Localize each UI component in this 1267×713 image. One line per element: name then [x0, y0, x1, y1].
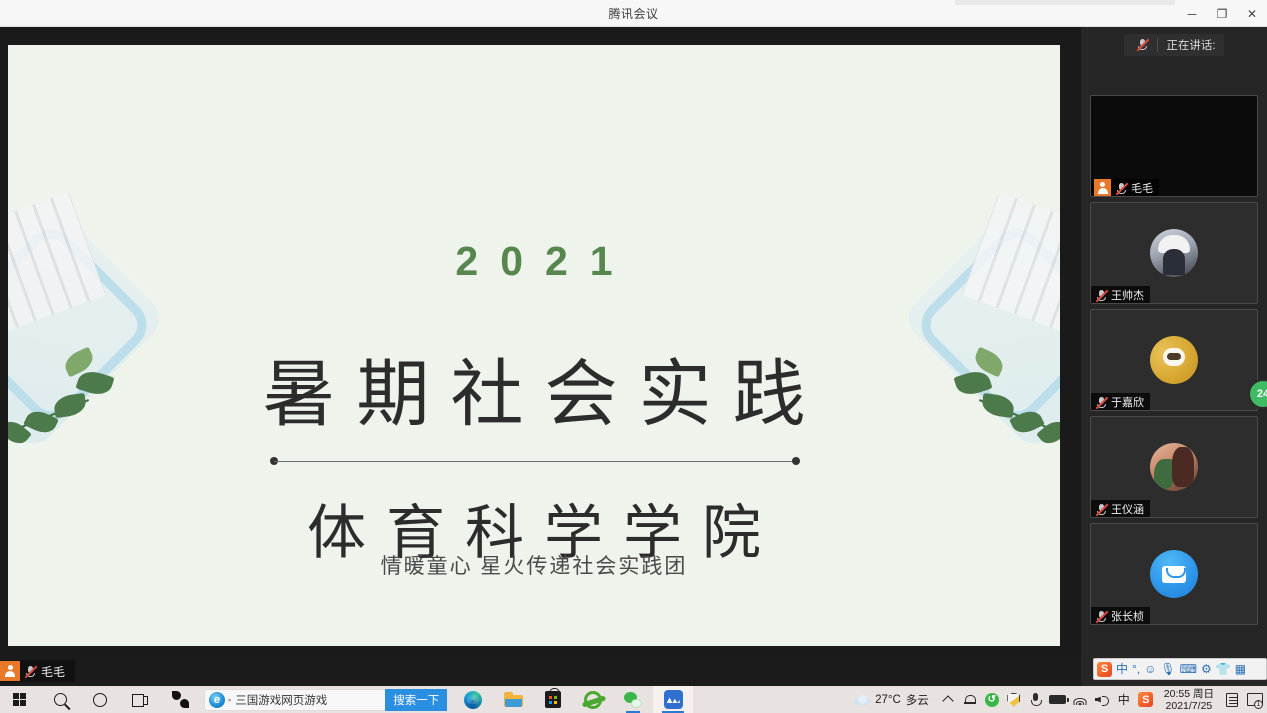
- action-center-icon: 1: [1247, 693, 1261, 706]
- start-button[interactable]: [0, 686, 40, 713]
- chevron-up-icon: [942, 695, 953, 706]
- tray-security-shield[interactable]: [1003, 686, 1025, 713]
- speaking-now-header: 正在讲话:: [1081, 27, 1267, 62]
- participant-avatar: [1150, 336, 1198, 384]
- divider-dot-right: [792, 457, 800, 465]
- taskbar-app-microsoft-store[interactable]: [533, 686, 573, 713]
- window-title-bar: 腾讯会议 ─ ❐ ✕: [0, 0, 1267, 27]
- participant-tile[interactable]: 王仪涵: [1090, 416, 1258, 518]
- search-submit-button[interactable]: 搜索一下: [385, 689, 447, 711]
- window-controls: ─ ❐ ✕: [1177, 0, 1267, 27]
- participant-label: 王帅杰: [1091, 286, 1150, 303]
- microsoft-edge-icon: [464, 691, 482, 709]
- participant-label: 于嘉欣: [1091, 393, 1150, 410]
- cortana-icon: [93, 693, 107, 707]
- mic-muted-icon: [24, 665, 37, 678]
- titlebar-decoration: [955, 0, 1175, 5]
- taskbar-app-wechat[interactable]: [613, 686, 653, 713]
- notes-icon: [1226, 693, 1238, 707]
- taskbar-app-sogou-browser[interactable]: [160, 686, 200, 713]
- divider-line: [274, 461, 796, 462]
- search-icon: [54, 693, 67, 706]
- ime-language-toggle[interactable]: 中: [1116, 663, 1128, 675]
- internet-explorer-icon: [584, 691, 602, 709]
- taskbar-search-button[interactable]: [40, 686, 80, 713]
- apps-grid-icon[interactable]: ▦: [1235, 663, 1246, 675]
- mic-muted-icon: [1095, 396, 1107, 408]
- sogou-ime-toolbar[interactable]: S 中 °, ☺ 🎙 ⌨ ⚙ 👕 ▦: [1093, 658, 1267, 680]
- header-divider: [1157, 38, 1158, 52]
- tray-notifications-bell[interactable]: [959, 686, 981, 713]
- skin-icon[interactable]: 👕: [1216, 663, 1231, 675]
- tray-360-safe[interactable]: ↺: [981, 686, 1003, 713]
- search-separator: ▪: [228, 695, 231, 705]
- participant-avatar: [1150, 443, 1198, 491]
- user-avatar-icon: [1094, 179, 1111, 196]
- toolbox-icon[interactable]: ⚙: [1201, 663, 1212, 675]
- taskbar-search-box[interactable]: e ▪ 三国游戏网页游戏 搜索一下: [204, 689, 447, 711]
- participants-panel: 正在讲话: 毛毛 王帅杰 于嘉欣: [1081, 27, 1267, 686]
- participant-avatar: [1150, 229, 1198, 277]
- mic-muted-icon: [1095, 610, 1107, 622]
- sogou-icon: S: [1138, 692, 1153, 707]
- participant-avatar: [1150, 550, 1198, 598]
- mic-muted-icon: [1095, 503, 1107, 515]
- taskbar-clock[interactable]: 20:55 周日 2021/7/25: [1157, 686, 1221, 713]
- emoji-icon[interactable]: ☺: [1144, 663, 1156, 675]
- shared-screen-stage[interactable]: 2021 暑期社会实践 体育科学学院 情暖童心 星火传递社会实践团 毛毛: [0, 27, 1081, 686]
- taskbar-app-tencent-meeting[interactable]: [653, 686, 693, 713]
- slide-year: 2021: [8, 238, 1060, 285]
- microsoft-store-icon: [545, 691, 561, 708]
- participant-name: 张长桢: [1111, 608, 1144, 624]
- show-hidden-icons-button[interactable]: [937, 686, 959, 713]
- sogou-logo-icon[interactable]: S: [1097, 662, 1112, 677]
- taskbar-app-file-explorer[interactable]: [493, 686, 533, 713]
- bell-icon: [964, 694, 975, 706]
- tray-network[interactable]: [1069, 686, 1091, 713]
- windows-taskbar: e ▪ 三国游戏网页游戏 搜索一下 27°C 多云 ↺: [0, 686, 1267, 713]
- action-center-button[interactable]: 1: [1243, 686, 1265, 713]
- tray-microphone[interactable]: [1025, 686, 1047, 713]
- participant-name: 于嘉欣: [1111, 394, 1144, 410]
- user-avatar-icon: [0, 661, 20, 681]
- clock-time: 20:55 周日: [1164, 688, 1214, 700]
- participant-name: 王仪涵: [1111, 501, 1144, 517]
- tray-battery[interactable]: [1047, 686, 1069, 713]
- task-view-icon: [132, 693, 148, 706]
- participant-label: 毛毛: [1091, 179, 1159, 196]
- start-icon: [13, 693, 27, 707]
- cloud-icon: [854, 695, 870, 705]
- tray-sogou-ime[interactable]: S: [1135, 686, 1157, 713]
- participant-name: 王帅杰: [1111, 287, 1144, 303]
- microphone-icon: [1031, 693, 1040, 707]
- mic-muted-icon: [1095, 289, 1107, 301]
- file-explorer-icon: [504, 692, 523, 707]
- participant-tile[interactable]: 毛毛: [1090, 95, 1258, 197]
- system-tray: 27°C 多云 ↺ 中 S 20:55 周日: [846, 686, 1267, 713]
- participant-tile[interactable]: 王帅杰: [1090, 202, 1258, 304]
- maximize-button[interactable]: ❐: [1207, 0, 1237, 27]
- taskbar-app-internet-explorer[interactable]: [573, 686, 613, 713]
- local-speaker-tag: 毛毛: [0, 660, 75, 682]
- weather-temperature: 27°C: [875, 694, 901, 706]
- ime-punctuation-toggle[interactable]: °,: [1132, 663, 1140, 675]
- participant-tile[interactable]: 于嘉欣: [1090, 309, 1258, 411]
- soft-keyboard-icon[interactable]: ⌨: [1180, 663, 1197, 675]
- wechat-icon: [624, 692, 642, 708]
- participant-label: 张长桢: [1091, 607, 1150, 624]
- mic-muted-icon: [1136, 38, 1149, 51]
- participant-label: 王仪涵: [1091, 500, 1150, 517]
- participant-name: 毛毛: [1131, 180, 1153, 196]
- mic-muted-icon: [1115, 182, 1127, 194]
- task-view-button[interactable]: [120, 686, 160, 713]
- taskbar-app-microsoft-edge[interactable]: [453, 686, 493, 713]
- cortana-button[interactable]: [80, 686, 120, 713]
- search-engine-icon: e: [209, 692, 225, 708]
- voice-input-icon[interactable]: 🎙: [1160, 663, 1175, 675]
- slide-team-name: 情暖童心 星火传递社会实践团: [8, 550, 1060, 580]
- volume-icon: [1095, 694, 1109, 706]
- slide-divider: [270, 460, 800, 463]
- tray-ime-indicator[interactable]: 中: [1113, 686, 1135, 713]
- weather-widget[interactable]: 27°C 多云: [846, 686, 937, 713]
- presentation-slide: 2021 暑期社会实践 体育科学学院 情暖童心 星火传递社会实践团: [8, 45, 1060, 646]
- wifi-icon: [1073, 694, 1087, 705]
- shield-icon: [1007, 693, 1020, 707]
- tray-volume[interactable]: [1091, 686, 1113, 713]
- search-input[interactable]: 三国游戏网页游戏: [235, 692, 385, 708]
- battery-icon: [1049, 695, 1066, 704]
- weather-description: 多云: [906, 692, 929, 708]
- sogou-browser-icon: [172, 691, 189, 708]
- recycle-icon: ↺: [985, 693, 999, 707]
- slide-main-title: 暑期社会实践: [8, 335, 1060, 441]
- speaking-now-box: 正在讲话:: [1124, 34, 1223, 56]
- local-speaker-strip: 毛毛: [0, 659, 1081, 686]
- window-title: 腾讯会议: [0, 5, 1267, 22]
- local-speaker-name: 毛毛: [41, 663, 65, 680]
- close-button[interactable]: ✕: [1237, 0, 1267, 27]
- speaking-now-label: 正在讲话:: [1166, 37, 1215, 53]
- clock-date: 2021/7/25: [1164, 700, 1214, 712]
- participant-tile[interactable]: 张长桢: [1090, 523, 1258, 625]
- notification-count: 1: [1254, 700, 1263, 709]
- minimize-button[interactable]: ─: [1177, 0, 1207, 27]
- tray-sticky-notes[interactable]: [1221, 686, 1243, 713]
- tencent-meeting-icon: [664, 690, 683, 709]
